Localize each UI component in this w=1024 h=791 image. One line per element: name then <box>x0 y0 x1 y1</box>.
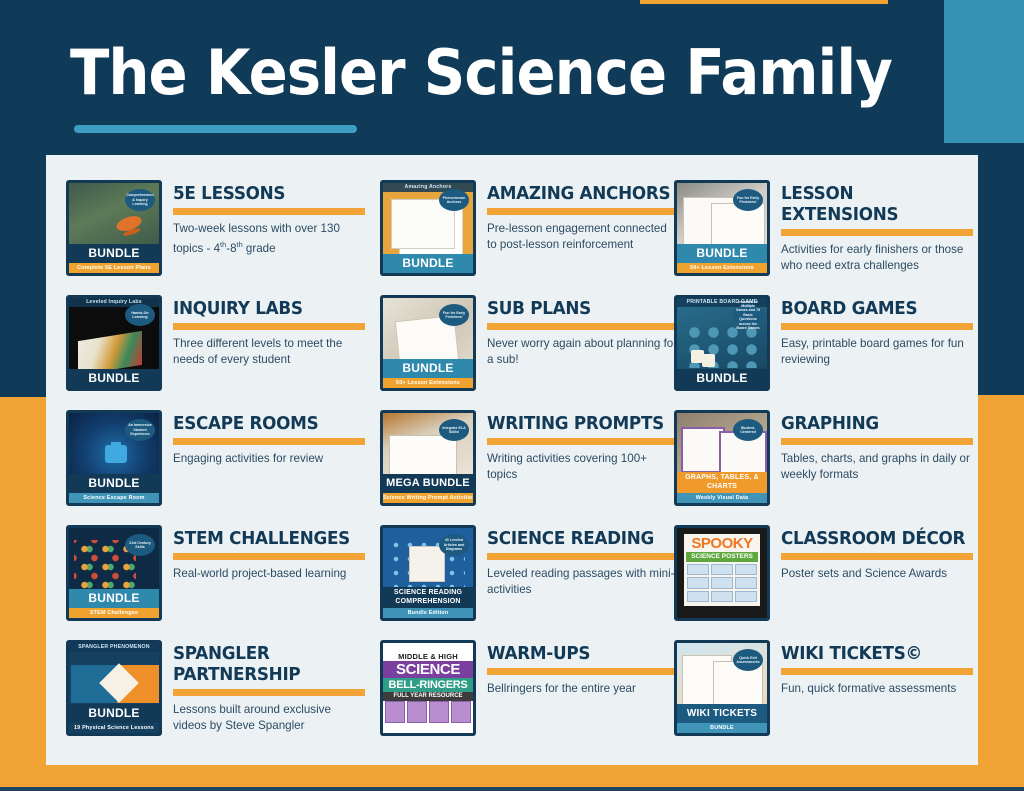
thumbnail-bundle-label: MEGA BUNDLE <box>383 474 473 493</box>
thumbnail-bundle-label: GRAPHS, TABLES, & CHARTS <box>677 472 767 493</box>
thumbnail-sub-label: 19 Physical Science Lessons <box>69 723 159 733</box>
page-title: The Kesler Science Family <box>70 36 892 109</box>
cover-text-line: BELL-RINGERS <box>383 678 473 692</box>
title-rule-orange <box>487 553 679 560</box>
product-thumbnail[interactable]: 21st Century SkillsBUNDLESTEM Challenges <box>66 525 162 621</box>
thumbnail-badge: Student-Centered <box>733 419 763 441</box>
product-thumbnail[interactable]: Fun for Early Finishers!BUNDLE50+ Lesson… <box>380 295 476 391</box>
product-thumbnail[interactable]: SPOOKYSCIENCE POSTERS <box>674 525 770 621</box>
product-thumbnail[interactable]: Fun for Early Finishers!BUNDLE50+ Lesson… <box>674 180 770 276</box>
product-column-2: Amazing AnchorsPhenomenon AnchorsBUNDLEA… <box>380 155 680 765</box>
product-thumbnail[interactable]: SPANGLER PHENOMENONBUNDLE19 Physical Sci… <box>66 640 162 736</box>
thumbnail-badge: Integrate ELA Skills! <box>439 419 469 441</box>
product-card[interactable]: 21st Century SkillsBUNDLESTEM Challenges… <box>66 525 365 621</box>
thumbnail-sub-label: Science Escape Room <box>69 493 159 503</box>
product-thumbnail[interactable]: Amazing AnchorsPhenomenon AnchorsBUNDLE <box>380 180 476 276</box>
cover-text-line: SCIENCE <box>383 661 473 678</box>
product-description: Real-world project-based learning <box>173 566 365 582</box>
thumbnail-badge: 40 Leveled Articles and Diagrams <box>439 534 469 556</box>
poster-cell <box>687 577 709 588</box>
product-card[interactable]: MIDDLE & HIGHSCIENCEBELL-RINGERSFULL YEA… <box>380 640 679 736</box>
product-thumbnail[interactable]: An Immersive Student ExperienceBUNDLESci… <box>66 410 162 506</box>
thumbnail-badge: Quick Exit Assessments <box>733 649 763 671</box>
thumbnail-bundle-label: BUNDLE <box>677 369 767 388</box>
thumbnail-badge: Fun for Early Finishers! <box>733 189 763 211</box>
thumbnail-top-label: SPANGLER PHENOMENON <box>69 643 159 652</box>
product-title: SUB PLANS <box>487 299 671 320</box>
thumbnail-sub-label: 50+ Lesson Extensions <box>383 378 473 388</box>
product-description: Activities for early finishers or those … <box>781 242 973 273</box>
accent-bar-right-orange <box>978 395 1024 791</box>
poster-cell <box>687 591 709 602</box>
title-rule-orange <box>781 229 973 236</box>
thumbnail-badge: Comprehension & Inquiry Learning <box>125 189 155 211</box>
product-title: LESSON EXTENSIONS <box>781 184 965 226</box>
cover-thumb <box>451 701 471 723</box>
product-thumbnail[interactable]: Integrate ELA Skills!MEGA BUNDLEScience … <box>380 410 476 506</box>
poster-cell <box>711 591 733 602</box>
product-title: SPANGLER PARTNERSHIP <box>173 644 357 686</box>
product-thumbnail[interactable]: Student-CenteredGRAPHS, TABLES, & CHARTS… <box>674 410 770 506</box>
product-card[interactable]: Student-CenteredGRAPHS, TABLES, & CHARTS… <box>674 410 973 506</box>
title-rule-orange <box>781 553 973 560</box>
bottom-edge-line <box>0 787 1024 791</box>
title-rule-orange <box>487 668 679 675</box>
title-rule-orange <box>487 208 679 215</box>
content-panel: Comprehension & Inquiry LearningBUNDLECo… <box>46 155 978 765</box>
thumbnail-bundle-label: BUNDLE <box>383 254 473 273</box>
product-card-body: WIKI TICKETS©Fun, quick formative assess… <box>781 640 973 697</box>
poster-cell <box>711 564 733 575</box>
poster-cell <box>735 577 757 588</box>
thumbnail-bundle-label: BUNDLE <box>69 244 159 263</box>
thumbnail-bundle-label: BUNDLE <box>69 704 159 723</box>
product-card-body: ESCAPE ROOMSEngaging activities for revi… <box>173 410 365 467</box>
product-card-body: WRITING PROMPTSWriting activities coveri… <box>487 410 679 482</box>
product-card[interactable]: SPANGLER PHENOMENONBUNDLE19 Physical Sci… <box>66 640 365 736</box>
product-column-3: Fun for Early Finishers!BUNDLE50+ Lesson… <box>674 155 974 765</box>
poster-page: The Kesler Science Family Comprehension … <box>0 0 1024 791</box>
product-card[interactable]: Fun for Early Finishers!BUNDLE50+ Lesson… <box>674 180 973 276</box>
thumbnail-sub-label: Complete 5E Lesson Plans <box>69 263 159 273</box>
poster-subtitle: SCIENCE POSTERS <box>686 552 758 562</box>
thumbnail-badge: Includes 10 Multiple Games and 75 Basic … <box>733 304 763 326</box>
product-card-body: CLASSROOM DÉCORPoster sets and Science A… <box>781 525 973 582</box>
poster-cell <box>711 577 733 588</box>
thumbnail-bundle-label: BUNDLE <box>69 474 159 493</box>
product-thumbnail[interactable]: 40 Leveled Articles and DiagramsSCIENCE … <box>380 525 476 621</box>
product-card[interactable]: Integrate ELA Skills!MEGA BUNDLEScience … <box>380 410 679 506</box>
thumbnail-sub-label: Science Writing Prompt Activities <box>383 493 473 503</box>
product-card-body: STEM CHALLENGESReal-world project-based … <box>173 525 365 582</box>
thumbnail-bundle-label: WIKI TICKETS <box>677 704 767 723</box>
poster-cell <box>735 591 757 602</box>
product-card[interactable]: Fun for Early Finishers!BUNDLE50+ Lesson… <box>380 295 679 391</box>
cover-thumb <box>429 701 449 723</box>
product-thumbnail[interactable]: MIDDLE & HIGHSCIENCEBELL-RINGERSFULL YEA… <box>380 640 476 736</box>
title-rule-orange <box>173 553 365 560</box>
product-card[interactable]: Leveled Inquiry LabsHands-On LearningBUN… <box>66 295 365 391</box>
title-rule-orange <box>173 438 365 445</box>
thumbnail-badge: 21st Century Skills <box>125 534 155 556</box>
product-description: Pre-lesson engagement connected to post-… <box>487 221 679 252</box>
accent-block-teal <box>944 0 1024 143</box>
product-card-body: GRAPHINGTables, charts, and graphs in da… <box>781 410 973 482</box>
product-card-body: SPANGLER PARTNERSHIPLessons built around… <box>173 640 365 733</box>
poster-cell <box>687 564 709 575</box>
poster-grid <box>687 564 757 602</box>
poster-cell <box>735 564 757 575</box>
product-title: BOARD GAMES <box>781 299 965 320</box>
cover-text-line: FULL YEAR RESOURCE <box>383 692 473 701</box>
product-description: Leveled reading passages with mini-activ… <box>487 566 679 597</box>
product-title: GRAPHING <box>781 414 965 435</box>
product-title: 5E LESSONS <box>173 184 357 205</box>
product-card-body: BOARD GAMESEasy, printable board games f… <box>781 295 973 367</box>
product-description: Engaging activities for review <box>173 451 365 467</box>
title-rule-orange <box>781 323 973 330</box>
product-description: Easy, printable board games for fun revi… <box>781 336 973 367</box>
thumbnail-sub-label: 50+ Lesson Extensions <box>677 263 767 273</box>
product-card[interactable]: An Immersive Student ExperienceBUNDLESci… <box>66 410 365 506</box>
thumbnail-bundle-label: BUNDLE <box>677 244 767 263</box>
product-grid: Comprehension & Inquiry LearningBUNDLECo… <box>46 155 978 765</box>
title-rule-orange <box>781 438 973 445</box>
product-title: SCIENCE READING <box>487 529 671 550</box>
thumbnail-sub-label: STEM Challenges <box>69 608 159 618</box>
product-card-body: 5E LESSONSTwo-week lessons with over 130… <box>173 180 365 256</box>
thumbnail-bundle-label: BUNDLE <box>69 369 159 388</box>
title-rule-orange <box>173 208 365 215</box>
product-description: Fun, quick formative assessments <box>781 681 973 697</box>
title-rule-orange <box>173 323 365 330</box>
product-title: STEM CHALLENGES <box>173 529 357 550</box>
product-title: WIKI TICKETS© <box>781 644 965 665</box>
product-thumbnail[interactable]: Comprehension & Inquiry LearningBUNDLECo… <box>66 180 162 276</box>
product-description: Poster sets and Science Awards <box>781 566 973 582</box>
title-rule-orange <box>173 689 365 696</box>
thumbnail-sub-label: BUNDLE <box>677 723 767 733</box>
product-card-body: WARM-UPSBellringers for the entire year <box>487 640 679 697</box>
product-description: Tables, charts, and graphs in daily or w… <box>781 451 973 482</box>
product-card[interactable]: 40 Leveled Articles and DiagramsSCIENCE … <box>380 525 679 621</box>
poster-inner: SPOOKYSCIENCE POSTERS <box>684 534 760 606</box>
cover-thumbnail-row <box>385 701 471 723</box>
product-card[interactable]: PRINTABLE BOARD GAMEIncludes 10 Multiple… <box>674 295 973 391</box>
thumbnail-bundle-label: BUNDLE <box>69 589 159 608</box>
thumbnail-badge: Phenomenon Anchors <box>439 189 469 211</box>
product-title: WRITING PROMPTS <box>487 414 671 435</box>
product-card[interactable]: SPOOKYSCIENCE POSTERSCLASSROOM DÉCORPost… <box>674 525 973 621</box>
thumbnail-badge: An Immersive Student Experience <box>125 419 155 441</box>
product-description: Two-week lessons with over 130 topics - … <box>173 221 365 256</box>
accent-bar-left-orange <box>0 397 46 791</box>
thumbnail-bundle-label: SCIENCE READING COMPREHENSION <box>383 587 473 608</box>
product-card-body: SUB PLANSNever worry again about plannin… <box>487 295 679 367</box>
thumbnail-badge: Hands-On Learning <box>125 304 155 326</box>
product-description: Lessons built around exclusive videos by… <box>173 702 365 733</box>
product-thumbnail[interactable]: Leveled Inquiry LabsHands-On LearningBUN… <box>66 295 162 391</box>
paper-sheet <box>409 546 445 582</box>
title-rule-orange <box>487 323 679 330</box>
superscript: th <box>237 240 243 249</box>
product-card[interactable]: Quick Exit AssessmentsWIKI TICKETSBUNDLE… <box>674 640 973 736</box>
product-title: WARM-UPS <box>487 644 671 665</box>
poster-title: SPOOKY <box>684 536 760 552</box>
product-card-body: SCIENCE READINGLeveled reading passages … <box>487 525 679 597</box>
product-thumbnail[interactable]: Quick Exit AssessmentsWIKI TICKETSBUNDLE <box>674 640 770 736</box>
header: The Kesler Science Family <box>0 0 944 155</box>
product-card-body: LESSON EXTENSIONSActivities for early fi… <box>781 180 973 273</box>
product-card[interactable]: Comprehension & Inquiry LearningBUNDLECo… <box>66 180 365 276</box>
product-title: AMAZING ANCHORS <box>487 184 671 205</box>
product-title: INQUIRY LABS <box>173 299 357 320</box>
product-title: CLASSROOM DÉCOR <box>781 529 965 550</box>
product-card-body: AMAZING ANCHORSPre-lesson engagement con… <box>487 180 679 252</box>
product-column-1: Comprehension & Inquiry LearningBUNDLECo… <box>66 155 366 765</box>
title-rule-orange <box>781 668 973 675</box>
product-description: Never worry again about planning for a s… <box>487 336 679 367</box>
product-card-body: INQUIRY LABSThree different levels to me… <box>173 295 365 367</box>
thumbnail-bundle-label: BUNDLE <box>383 359 473 378</box>
product-description: Writing activities covering 100+ topics <box>487 451 679 482</box>
product-title: ESCAPE ROOMS <box>173 414 357 435</box>
dice-icon <box>691 350 704 363</box>
thumbnail-sub-label: Bundle Edition <box>383 608 473 618</box>
superscript: th <box>220 240 226 249</box>
cover-thumb <box>407 701 427 723</box>
cover-thumb <box>385 701 405 723</box>
thumbnail-sub-label: Weekly Visual Data <box>677 493 767 503</box>
product-thumbnail[interactable]: PRINTABLE BOARD GAMEIncludes 10 Multiple… <box>674 295 770 391</box>
product-card[interactable]: Amazing AnchorsPhenomenon AnchorsBUNDLEA… <box>380 180 679 276</box>
product-description: Bellringers for the entire year <box>487 681 679 697</box>
title-underline-accent <box>74 125 357 133</box>
product-description: Three different levels to meet the needs… <box>173 336 365 367</box>
thumbnail-badge: Fun for Early Finishers! <box>439 304 469 326</box>
title-rule-orange <box>487 438 679 445</box>
